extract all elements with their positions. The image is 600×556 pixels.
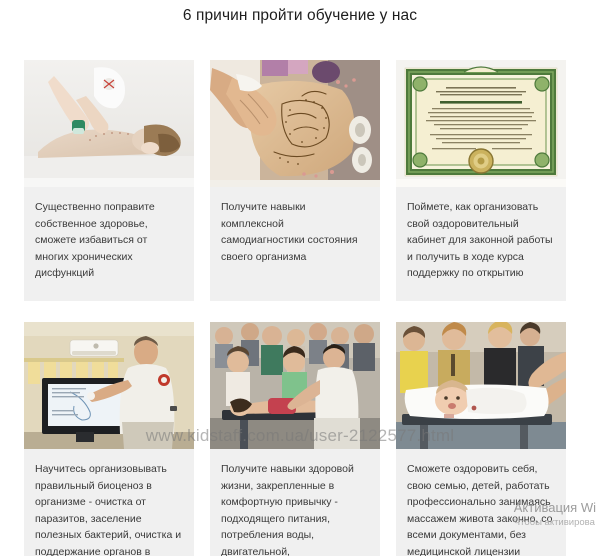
card-body: Поймете, как организовать свой оздоровит… [396, 187, 566, 301]
reason-text: Поймете, как организовать свой оздоровит… [407, 199, 555, 282]
reason-card[interactable]: Получите навыки комплексной самодиагност… [210, 60, 380, 301]
card-body: Сможете оздоровить себя, свою семью, дет… [396, 449, 566, 556]
reason-card[interactable]: Поймете, как организовать свой оздоровит… [396, 60, 566, 301]
reason-card[interactable]: Существенно поправите собственное здоров… [24, 60, 194, 301]
reason-card[interactable]: Научитесь организовывать правильный биоц… [24, 322, 194, 556]
card-body: Научитесь организовывать правильный биоц… [24, 449, 194, 556]
reason-text: Научитесь организовывать правильный биоц… [35, 461, 183, 556]
reason-text: Получите навыки комплексной самодиагност… [221, 199, 369, 265]
card-body: Получите навыки здоровой жизни, закрепле… [210, 449, 380, 556]
baby-massage-photo [396, 322, 566, 449]
page-title: 6 причин пройти обучение у нас [0, 0, 600, 27]
cupping-massage-photo [24, 60, 194, 187]
certificate-photo [396, 60, 566, 187]
abdominal-massage-photo [210, 60, 380, 187]
reason-text: Сможете оздоровить себя, свою семью, дет… [407, 461, 555, 556]
reason-card[interactable]: Получите навыки здоровой жизни, закрепле… [210, 322, 380, 556]
card-body: Существенно поправите собственное здоров… [24, 187, 194, 301]
group-demonstration-photo [210, 322, 380, 449]
page-root: 6 причин пройти обучение у нас [0, 0, 600, 556]
lecturer-presentation-photo [24, 322, 194, 449]
reason-text: Существенно поправите собственное здоров… [35, 199, 183, 282]
card-body: Получите навыки комплексной самодиагност… [210, 187, 380, 301]
reason-text: Получите навыки здоровой жизни, закрепле… [221, 461, 369, 556]
reason-card[interactable]: Сможете оздоровить себя, свою семью, дет… [396, 322, 566, 556]
reasons-grid: Существенно поправите собственное здоров… [24, 60, 580, 556]
